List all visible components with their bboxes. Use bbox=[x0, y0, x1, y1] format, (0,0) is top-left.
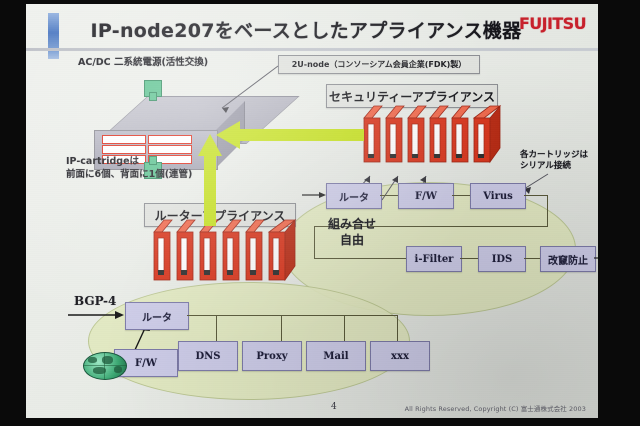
service-box-xxx[interactable]: xxx bbox=[370, 341, 430, 371]
flow-link-router-fw bbox=[380, 195, 398, 196]
power-supply-annotation: AC/DC 二系統電源(活性交換) bbox=[78, 56, 278, 69]
service-drop-proxy bbox=[281, 315, 282, 343]
security-flow-router[interactable]: ルータ bbox=[326, 183, 382, 209]
service-drop-mail bbox=[344, 315, 345, 343]
combination-free-line2: 自由 bbox=[312, 232, 392, 248]
security-appliance-rack bbox=[364, 112, 504, 174]
service-drop-dns bbox=[216, 315, 217, 343]
2u-node-callout: 2U-node（コンソーシアム会員企業(FDK)製） bbox=[278, 55, 480, 74]
page-title: IP-node207をベースとしたアプライアンス機器 bbox=[86, 10, 526, 48]
title-accent-bar-lower bbox=[48, 51, 59, 59]
ip-cartridge-count-line1: IP-cartridgeは bbox=[66, 155, 276, 168]
globe-equator bbox=[84, 365, 126, 366]
combination-free-annotation: 組み合せ 自由 bbox=[312, 216, 392, 248]
security-flow-tamper-prevention[interactable]: 改竄防止 bbox=[540, 246, 596, 272]
combination-free-line1: 組み合せ bbox=[312, 216, 392, 232]
ip-cartridge-count-annotation: IP-cartridgeは 前面に6個、背面に1個(連管) bbox=[66, 155, 276, 181]
globe-landmass bbox=[114, 366, 122, 373]
globe-meridian bbox=[104, 353, 105, 379]
flow-link-fw-virus bbox=[452, 195, 470, 196]
bgp4-label: BGP-4 bbox=[74, 295, 116, 308]
service-bus-line bbox=[187, 315, 397, 316]
title-accent-bar bbox=[48, 13, 59, 49]
router-appliance-rack bbox=[154, 226, 304, 292]
ip-cartridge-slot bbox=[102, 145, 146, 154]
page-number: 4 bbox=[331, 402, 337, 412]
copyright-notice: All Rights Reserved, Copyright (C) 富士通株式… bbox=[405, 403, 586, 413]
presentation-slide: IP-node207をベースとしたアプライアンス機器 FUJITSU bbox=[26, 4, 598, 418]
serial-connection-line2: シリアル接続 bbox=[520, 161, 598, 172]
security-flow-firewall[interactable]: F/W bbox=[398, 183, 454, 209]
flow-link-virus-right bbox=[524, 195, 548, 196]
flow-link-right-down bbox=[547, 195, 548, 227]
service-drop-xxx bbox=[397, 315, 398, 343]
slide-header: IP-node207をベースとしたアプライアンス機器 FUJITSU bbox=[26, 4, 598, 50]
flow-link-to-ifilter bbox=[314, 258, 406, 259]
service-box-mail[interactable]: Mail bbox=[306, 341, 366, 371]
globe-icon bbox=[83, 352, 127, 380]
ip-cartridge-slot bbox=[102, 135, 146, 144]
ip-cartridge-slot bbox=[148, 135, 192, 144]
service-box-proxy[interactable]: Proxy bbox=[242, 341, 302, 371]
service-box-dns[interactable]: DNS bbox=[178, 341, 238, 371]
ip-cartridge-count-line2: 前面に6個、背面に1個(連管) bbox=[66, 168, 276, 181]
flow-link-ifilter-ids bbox=[460, 258, 478, 259]
flow-link-ids-tamper bbox=[524, 258, 540, 259]
fujitsu-logo: FUJITSU bbox=[519, 14, 586, 33]
security-flow-virus[interactable]: Virus bbox=[470, 183, 526, 209]
serial-connection-annotation: 各カートリッジは シリアル接続 bbox=[520, 150, 598, 172]
photographed-slide-frame: IP-node207をベースとしたアプライアンス機器 FUJITSU bbox=[0, 0, 640, 426]
globe-landmass bbox=[88, 357, 97, 363]
router-flow-router[interactable]: ルータ bbox=[125, 302, 189, 330]
security-flow-ifilter[interactable]: i-Filter bbox=[406, 246, 462, 272]
power-supply-stem-top bbox=[149, 92, 157, 101]
ip-cartridge-slot bbox=[148, 145, 192, 154]
security-flow-ids[interactable]: IDS bbox=[478, 246, 526, 272]
serial-connection-line1: 各カートリッジは bbox=[520, 150, 598, 161]
header-divider bbox=[26, 48, 598, 51]
